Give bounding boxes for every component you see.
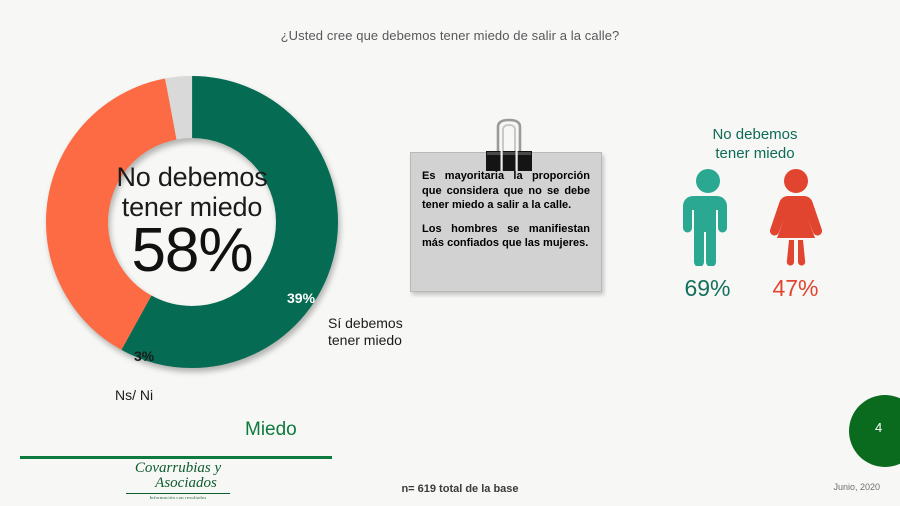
female-figure-icon: [765, 168, 827, 266]
gender-column-male: 69%: [660, 168, 755, 302]
page-title: ¿Usted cree que debemos tener miedo de s…: [0, 28, 900, 43]
male-figure-icon: [677, 168, 739, 266]
donut-label-si-line-2: tener miedo: [328, 332, 403, 349]
donut-chart: No debemos tener miedo 58%: [42, 72, 342, 372]
logo-tagline: Información con resultados: [118, 495, 238, 500]
gender-panel-title-line-1: No debemos: [660, 126, 850, 145]
gender-panel-title-line-2: tener miedo: [660, 145, 850, 164]
company-logo: Covarrubias y Asociados Información con …: [118, 461, 238, 500]
gender-column-female: 47%: [748, 168, 843, 302]
donut-value-ns-ni: 3%: [134, 348, 154, 364]
donut-label-ns-ni: Ns/ Ni: [115, 387, 153, 404]
binder-clip-icon: [478, 113, 540, 175]
female-percentage: 47%: [748, 275, 843, 302]
donut-value-si-miedo: 39%: [287, 290, 315, 306]
logo-divider: [126, 493, 230, 494]
logo-line-1: Covarrubias y: [118, 461, 238, 476]
donut-label-si-line-1: Sí debemos: [328, 315, 403, 332]
male-percentage: 69%: [660, 275, 755, 302]
section-label: Miedo: [245, 419, 297, 441]
footer-divider: [20, 456, 332, 459]
insight-paragraph-1: Es mayoritaria la proporción que conside…: [422, 169, 590, 213]
slide-date: Junio, 2020: [790, 482, 880, 492]
page-number: 4: [875, 420, 882, 435]
slide-canvas: ¿Usted cree que debemos tener miedo de s…: [0, 0, 900, 506]
logo-line-2: Asociados: [134, 476, 238, 491]
insight-paragraph-2: Los hombres se manifiestan más confiados…: [422, 222, 590, 251]
gender-panel-title: No debemos tener miedo: [660, 126, 850, 164]
donut-label-si-miedo: Sí debemos tener miedo: [328, 315, 403, 349]
sample-base-note: n= 619 total de la base: [330, 483, 590, 495]
donut-chart-svg: [42, 72, 342, 372]
